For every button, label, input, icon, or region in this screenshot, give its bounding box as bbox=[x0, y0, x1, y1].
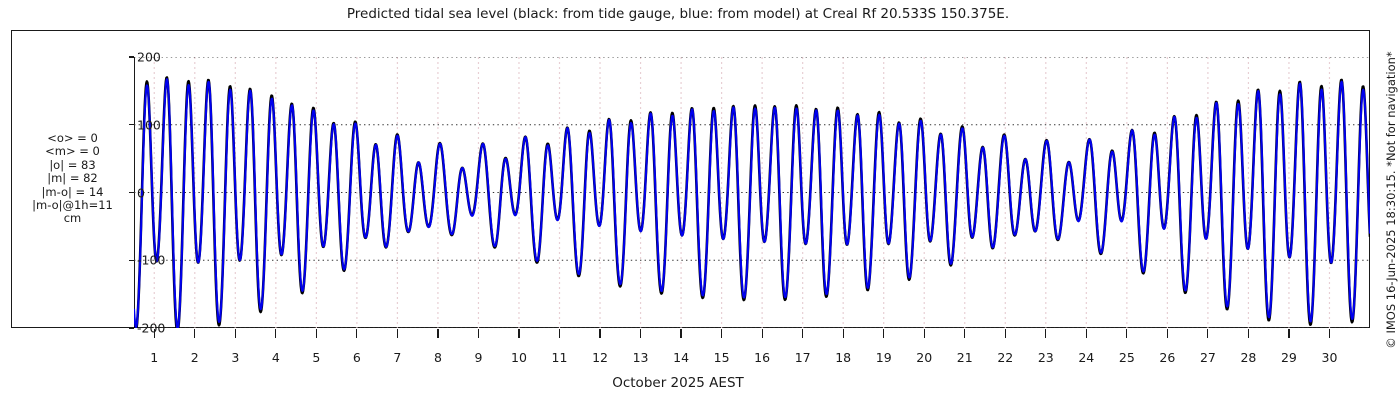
y-tick-label: 0 bbox=[137, 185, 145, 200]
x-tick-mark bbox=[397, 329, 398, 338]
x-tick-label: 29 bbox=[1281, 350, 1297, 365]
credit-text: © IMOS 16-Jun-2025 18:30:15. *Not for na… bbox=[1384, 51, 1398, 348]
x-tick-label: 21 bbox=[957, 350, 973, 365]
y-tick-label: 100 bbox=[137, 117, 161, 132]
x-tick-mark bbox=[275, 329, 276, 338]
x-tick-label: 28 bbox=[1240, 350, 1256, 365]
x-tick-label: 26 bbox=[1159, 350, 1175, 365]
y-tick-mark bbox=[129, 124, 134, 125]
x-tick-mark bbox=[802, 329, 803, 338]
x-tick-mark bbox=[437, 329, 438, 338]
x-tick-mark bbox=[1126, 329, 1127, 338]
x-tick-label: 6 bbox=[353, 350, 361, 365]
x-tick-mark bbox=[518, 329, 519, 338]
x-tick-mark bbox=[1248, 329, 1249, 338]
x-tick-mark bbox=[843, 329, 844, 338]
x-tick-mark bbox=[883, 329, 884, 338]
tide-series-svg bbox=[134, 57, 1370, 328]
x-tick-label: 25 bbox=[1119, 350, 1135, 365]
x-tick-label: 17 bbox=[795, 350, 811, 365]
x-tick-mark bbox=[599, 329, 600, 338]
x-tick-mark bbox=[1086, 329, 1087, 338]
x-tick-label: 9 bbox=[474, 350, 482, 365]
x-tick-label: 1 bbox=[150, 350, 158, 365]
x-tick-mark bbox=[478, 329, 479, 338]
stat-units: cm bbox=[12, 212, 133, 225]
y-tick-mark bbox=[129, 260, 134, 261]
x-tick-label: 24 bbox=[1078, 350, 1094, 365]
y-tick-mark bbox=[129, 56, 134, 57]
x-tick-mark bbox=[154, 329, 155, 338]
x-tick-label: 11 bbox=[552, 350, 568, 365]
stat-rms-difference: |m-o| = 14 bbox=[12, 186, 133, 199]
y-tick-mark bbox=[129, 327, 134, 328]
x-tick-label: 18 bbox=[835, 350, 851, 365]
x-tick-label: 5 bbox=[312, 350, 320, 365]
series-model-line bbox=[134, 79, 1370, 328]
x-axis-title: October 2025 AEST bbox=[0, 375, 1356, 391]
x-tick-label: 20 bbox=[916, 350, 932, 365]
x-tick-mark bbox=[721, 329, 722, 338]
x-tick-label: 2 bbox=[191, 350, 199, 365]
y-tick-mark bbox=[129, 192, 134, 193]
x-tick-label: 16 bbox=[754, 350, 770, 365]
x-tick-label: 15 bbox=[714, 350, 730, 365]
stat-mean-observed: <o> = 0 bbox=[12, 132, 133, 145]
x-tick-label: 13 bbox=[633, 350, 649, 365]
stat-rms-diff-1h: |m-o|@1h=11 bbox=[12, 199, 133, 212]
x-tick-mark bbox=[1288, 329, 1289, 338]
stat-rms-model: |m| = 82 bbox=[12, 172, 133, 185]
x-tick-mark bbox=[356, 329, 357, 338]
x-tick-mark bbox=[1207, 329, 1208, 338]
x-tick-label: 10 bbox=[511, 350, 527, 365]
x-tick-label: 22 bbox=[997, 350, 1013, 365]
x-tick-mark bbox=[964, 329, 965, 338]
x-tick-label: 12 bbox=[592, 350, 608, 365]
y-tick-label: -100 bbox=[137, 253, 165, 268]
statistics-block: <o> = 0 <m> = 0 |o| = 83 |m| = 82 |m-o| … bbox=[12, 132, 133, 226]
x-tick-mark bbox=[1167, 329, 1168, 338]
x-tick-label: 7 bbox=[393, 350, 401, 365]
x-tick-mark bbox=[194, 329, 195, 338]
x-tick-mark bbox=[1045, 329, 1046, 338]
y-tick-label: 200 bbox=[137, 50, 161, 65]
x-tick-mark bbox=[316, 329, 317, 338]
x-tick-mark bbox=[924, 329, 925, 338]
stat-rms-observed: |o| = 83 bbox=[12, 159, 133, 172]
x-tick-label: 30 bbox=[1322, 350, 1338, 365]
x-tick-mark bbox=[559, 329, 560, 338]
page-title: Predicted tidal sea level (black: from t… bbox=[0, 6, 1356, 22]
x-tick-mark bbox=[1005, 329, 1006, 338]
x-tick-label: 4 bbox=[272, 350, 280, 365]
x-tick-mark bbox=[235, 329, 236, 338]
x-tick-label: 14 bbox=[673, 350, 689, 365]
y-tick-label: -200 bbox=[137, 321, 165, 336]
x-tick-mark bbox=[1329, 329, 1330, 338]
x-tick-mark bbox=[762, 329, 763, 338]
plot-area bbox=[134, 57, 1370, 328]
x-tick-label: 19 bbox=[876, 350, 892, 365]
x-tick-label: 23 bbox=[1038, 350, 1054, 365]
copyright-credit: © IMOS 16-Jun-2025 18:30:15. *Not for na… bbox=[1381, 0, 1400, 400]
x-tick-label: 27 bbox=[1200, 350, 1216, 365]
x-tick-label: 3 bbox=[231, 350, 239, 365]
x-tick-mark bbox=[640, 329, 641, 338]
x-tick-label: 8 bbox=[434, 350, 442, 365]
stat-mean-model: <m> = 0 bbox=[12, 145, 133, 158]
x-tick-mark bbox=[680, 329, 681, 338]
